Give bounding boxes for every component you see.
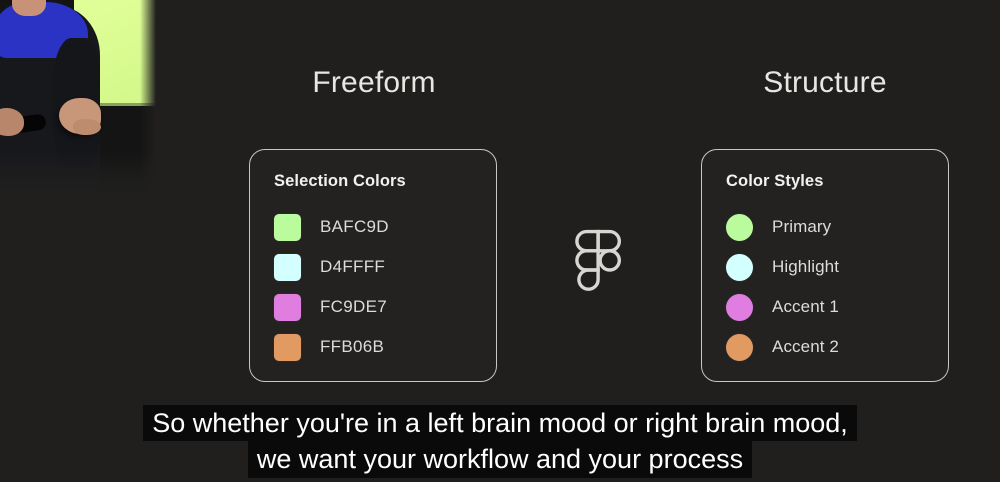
- color-swatch-icon[interactable]: [726, 334, 753, 361]
- color-hex-label: FC9DE7: [320, 297, 387, 317]
- selection-colors-title: Selection Colors: [274, 172, 496, 191]
- video-fade-bottom: [0, 150, 156, 196]
- color-hex-label: BAFC9D: [320, 217, 389, 237]
- presenter-hand-open: [59, 98, 101, 134]
- style-name-label: Accent 2: [772, 337, 839, 357]
- color-swatch-icon[interactable]: [274, 254, 301, 281]
- caption-line: we want your workflow and your process: [248, 441, 752, 478]
- swatch-row[interactable]: FC9DE7: [274, 287, 496, 327]
- style-row[interactable]: Primary: [726, 207, 948, 247]
- presentation-slide: Freeform Structure Selection Colors BAFC…: [0, 0, 1000, 482]
- swatch-row[interactable]: BAFC9D: [274, 207, 496, 247]
- color-swatch-icon[interactable]: [274, 294, 301, 321]
- color-styles-card: Color Styles Primary Highlight Accent 1 …: [701, 149, 949, 382]
- video-fade-right: [140, 0, 156, 196]
- presenter-video-inset: [0, 0, 156, 196]
- color-swatch-icon[interactable]: [726, 254, 753, 281]
- swatch-row[interactable]: D4FFFF: [274, 247, 496, 287]
- column-heading-freeform: Freeform: [224, 66, 524, 100]
- style-name-label: Highlight: [772, 257, 839, 277]
- style-name-label: Primary: [772, 217, 831, 237]
- column-heading-structure: Structure: [675, 66, 975, 100]
- color-hex-label: FFB06B: [320, 337, 384, 357]
- caption-overlay: So whether you're in a left brain mood o…: [0, 405, 1000, 478]
- color-swatch-icon[interactable]: [726, 214, 753, 241]
- color-styles-title: Color Styles: [726, 172, 948, 191]
- style-row[interactable]: Accent 2: [726, 327, 948, 367]
- swatch-row[interactable]: FFB06B: [274, 327, 496, 367]
- style-row[interactable]: Highlight: [726, 247, 948, 287]
- color-swatch-icon[interactable]: [274, 214, 301, 241]
- selection-colors-card: Selection Colors BAFC9D D4FFFF FC9DE7 FF…: [249, 149, 497, 382]
- color-hex-label: D4FFFF: [320, 257, 385, 277]
- style-name-label: Accent 1: [772, 297, 839, 317]
- color-swatch-icon[interactable]: [274, 334, 301, 361]
- style-row[interactable]: Accent 1: [726, 287, 948, 327]
- caption-line: So whether you're in a left brain mood o…: [143, 405, 857, 442]
- figma-logo-icon: [569, 229, 627, 301]
- color-swatch-icon[interactable]: [726, 294, 753, 321]
